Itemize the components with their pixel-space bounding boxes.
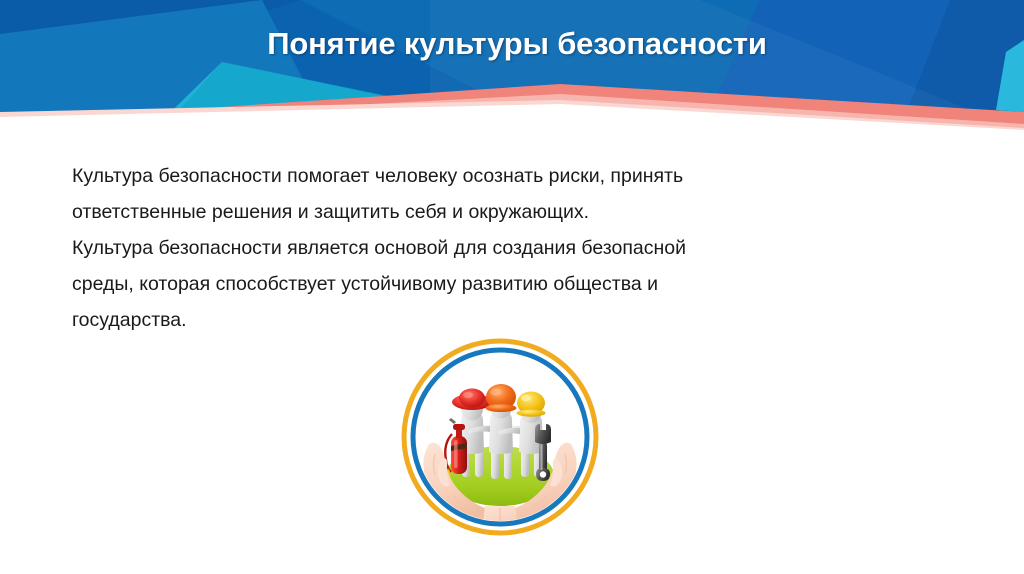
helmet-red-dome bbox=[459, 389, 485, 408]
helmet-orange-brim bbox=[486, 404, 517, 412]
body-paragraph-line-3: Культура безопасности является основой д… bbox=[72, 230, 922, 266]
body-text-block: Культура безопасности помогает человеку … bbox=[72, 158, 922, 338]
body-paragraph-line-4: среды, которая способствует устойчивому … bbox=[72, 266, 922, 302]
body-paragraph-line-2: ответственные решения и защитить себя и … bbox=[72, 194, 922, 230]
safety-culture-emblem-graphic bbox=[399, 336, 601, 538]
helmet-yellow-brim bbox=[517, 409, 546, 416]
page-title: Понятие культуры безопасности bbox=[0, 26, 1024, 62]
slide-root: Понятие культуры безопасности Культура б… bbox=[0, 0, 1024, 574]
header-banner: Понятие культуры безопасности bbox=[0, 0, 1024, 132]
safety-culture-emblem-icon bbox=[399, 336, 601, 538]
body-paragraph-line-1: Культура безопасности помогает человеку … bbox=[72, 158, 922, 194]
body-paragraph-line-5: государства. bbox=[72, 302, 922, 338]
header-banner-graphic bbox=[0, 0, 1024, 132]
